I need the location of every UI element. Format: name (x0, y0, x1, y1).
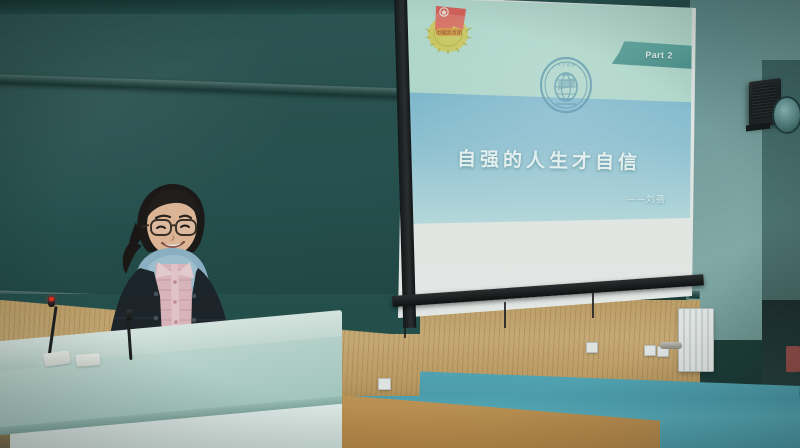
paper-sheet-2 (76, 353, 101, 367)
microphone-indicator-led (49, 297, 54, 301)
wall-outlet-2 (644, 345, 656, 356)
svg-text:大 学 校 徽: 大 学 校 徽 (557, 62, 575, 67)
wall-outlet-4 (586, 342, 598, 353)
blackboard-top-trim (0, 0, 420, 14)
slide-credit: ——刘蓓 (626, 192, 666, 206)
wall-round-fixture (772, 96, 800, 134)
screen-support-leg-2 (504, 302, 506, 328)
slide-section-badge-label: Part 2 (645, 50, 673, 61)
radiator-valve (660, 342, 682, 349)
projection-screen: 中国共青团 大 学 校 徽 Part 2 (396, 0, 710, 332)
screen-support-leg-3 (592, 292, 594, 318)
university-seal-icon: 大 学 校 徽 (538, 56, 594, 114)
lecture-hall-photo: 中国共青团 大 学 校 徽 Part 2 (0, 0, 800, 448)
wall-outlet-1 (378, 378, 391, 390)
microphone-head-2 (126, 309, 133, 320)
door-red-object (786, 346, 800, 372)
youth-league-emblem-icon: 中国共青团 (422, 0, 476, 56)
screen-support-leg-1 (404, 312, 406, 338)
svg-text:中国共青团: 中国共青团 (436, 28, 462, 36)
doorway (762, 300, 800, 390)
presentation-slide: 中国共青团 大 学 校 徽 Part 2 (404, 0, 694, 224)
slide-section-badge: Part 2 (612, 41, 694, 69)
